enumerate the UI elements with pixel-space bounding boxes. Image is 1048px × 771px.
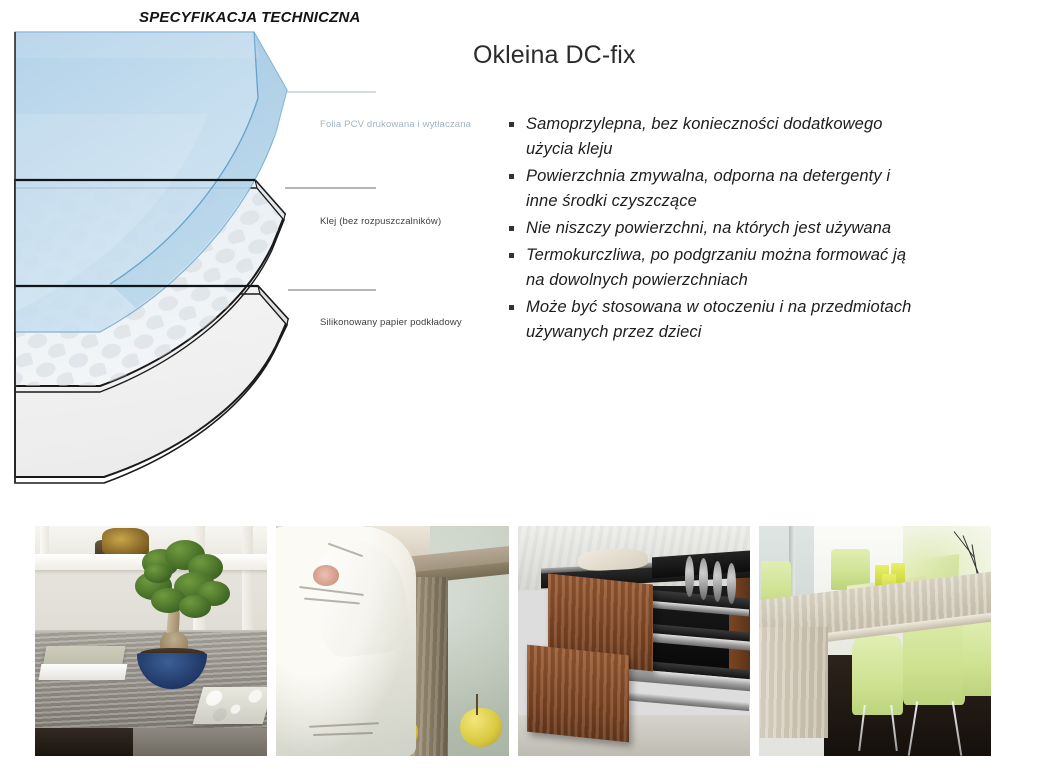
list-item: Może być stosowana w otoczeniu i na prze… [506, 295, 926, 345]
gallery-photo-kitchen-drawers [517, 525, 751, 757]
list-item: Powierzchnia zmywalna, odporna na deterg… [506, 164, 926, 214]
photo-gallery [34, 525, 992, 757]
layer-label-adhesive: Klej (bez rozpuszczalników) [320, 216, 441, 227]
layer-diagram: Folia PCV drukowana i wytłaczana Klej (b… [8, 28, 488, 490]
feature-list: Samoprzylepna, bez konieczności dodatkow… [506, 112, 926, 347]
page-title: SPECYFIKACJA TECHNICZNA [139, 9, 361, 26]
list-item: Nie niszczy powierzchni, na których jest… [506, 216, 926, 241]
gallery-photo-desk-bonsai [34, 525, 268, 757]
document-page: SPECYFIKACJA TECHNICZNA Okleina DC-fix [0, 0, 1048, 771]
list-item: Termokurczliwa, po podgrzaniu można form… [506, 243, 926, 293]
product-heading: Okleina DC-fix [473, 41, 636, 70]
layer-label-backing-paper: Silikonowany papier podkładowy [320, 317, 462, 328]
gallery-photo-dining-table [758, 525, 992, 757]
layer-label-pcv-film: Folia PCV drukowana i wytłaczana [320, 119, 471, 130]
gallery-photo-rustic-table [275, 525, 509, 757]
list-item: Samoprzylepna, bez konieczności dodatkow… [506, 112, 926, 162]
